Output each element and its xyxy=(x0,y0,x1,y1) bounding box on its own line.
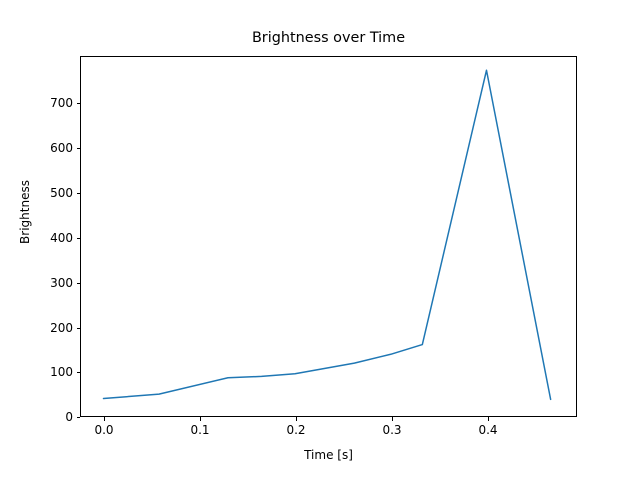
xtick-label-4: 0.4 xyxy=(478,423,497,437)
xtick-label-2: 0.2 xyxy=(286,423,305,437)
xtick-mark-1 xyxy=(200,417,201,421)
xtick-label-3: 0.3 xyxy=(382,423,401,437)
xtick-mark-2 xyxy=(296,417,297,421)
xtick-mark-4 xyxy=(488,417,489,421)
xtick-label-1: 0.1 xyxy=(190,423,209,437)
xtick-mark-3 xyxy=(392,417,393,421)
x-axis-label: Time [s] xyxy=(80,448,577,462)
y-axis-label: Brightness xyxy=(18,122,32,302)
xtick-mark-0 xyxy=(104,417,105,421)
xtick-label-0: 0.0 xyxy=(94,423,113,437)
figure: Brightness over Time 0 100 200 300 400 5… xyxy=(0,0,640,480)
plot-area xyxy=(80,56,577,417)
data-line-svg xyxy=(81,57,576,416)
data-series-line xyxy=(103,70,550,399)
